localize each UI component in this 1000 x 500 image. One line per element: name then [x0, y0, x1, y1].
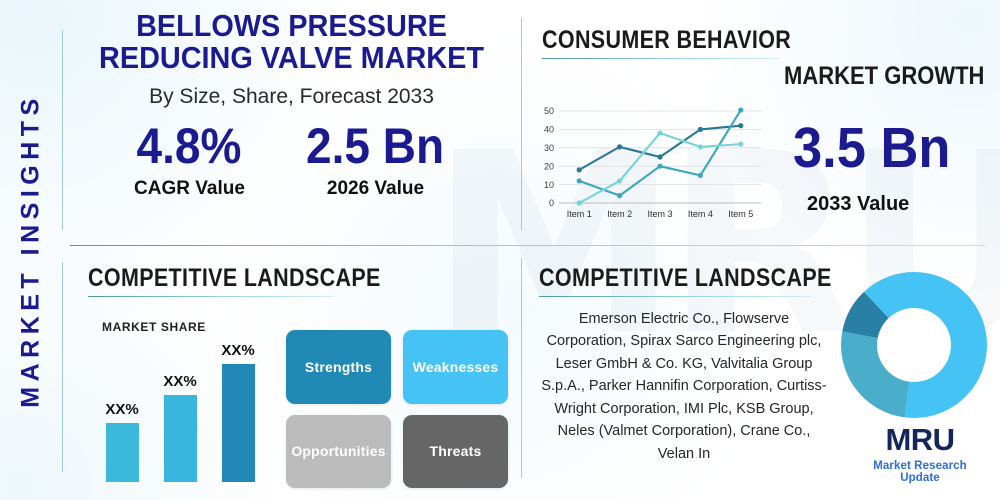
competitive-landscape-heading-right: COMPETITIVE LANDSCAPE [539, 264, 832, 293]
donut-hole [877, 308, 951, 382]
mru-logo-tagline: Market Research Update [859, 460, 981, 484]
consumer-behavior-heading: CONSUMER BEHAVIOR [542, 26, 791, 55]
kpi-group: 4.8% CAGR Value 2.5 Bn 2026 Value [62, 121, 521, 200]
svg-text:40: 40 [544, 125, 554, 135]
competitive-landscape-heading-wrap: COMPETITIVE LANDSCAPE [88, 264, 428, 297]
kpi-2026-value: 2.5 Bn [306, 121, 444, 171]
svg-text:10: 10 [544, 180, 554, 190]
market-growth-value: 3.5 Bn [793, 120, 950, 177]
svg-text:Item 5: Item 5 [728, 209, 753, 219]
swot-box-strengths[interactable]: Strengths [286, 330, 391, 404]
bar-column: XX% [100, 401, 144, 482]
bar-value-label: XX% [216, 342, 260, 359]
consumer-behavior-line-chart: 01020304050 Item 1Item 2Item 3Item 4Item… [533, 105, 767, 225]
infographic-canvas: MARKET INSIGHTS BELLOWS PRESSURE REDUCIN… [0, 0, 1000, 500]
swot-box-opportunities[interactable]: Opportunities [286, 415, 391, 489]
bar-value-label: XX% [158, 373, 202, 390]
swot-grid: StrengthsWeaknessesOpportunitiesThreats [286, 330, 508, 488]
heading-underline [88, 296, 333, 297]
market-share-donut-chart [839, 270, 989, 420]
competitive-landscape-heading-wrap-right: COMPETITIVE LANDSCAPE [539, 264, 879, 297]
heading-underline [542, 58, 780, 59]
donut-chart-svg [839, 270, 989, 420]
line-chart-series [577, 107, 744, 205]
svg-text:0: 0 [549, 198, 554, 208]
market-insights-rail: MARKET INSIGHTS [0, 0, 62, 500]
bar-value-label: XX% [100, 401, 144, 418]
market-growth-label: 2033 Value [807, 193, 909, 216]
kpi-2026: 2.5 Bn 2026 Value [300, 121, 450, 200]
bar-rect [106, 423, 139, 482]
svg-text:Item 4: Item 4 [688, 209, 713, 219]
kpi-cagr-value: 4.8% [137, 121, 242, 171]
company-list: Emerson Electric Co., Flowserve Corporat… [539, 308, 829, 465]
line-chart-x-ticks: Item 1Item 2Item 3Item 4Item 5 [567, 209, 754, 219]
page-subtitle: By Size, Share, Forecast 2033 [62, 85, 521, 109]
panel-competitive-landscape-charts: COMPETITIVE LANDSCAPE MARKET SHARE XX%XX… [62, 252, 521, 500]
panel-consumer-behavior: CONSUMER BEHAVIOR MARKET GROWTH 3.5 Bn 2… [521, 10, 1000, 245]
svg-text:Item 3: Item 3 [647, 209, 672, 219]
svg-text:Item 2: Item 2 [607, 209, 632, 219]
bar-rect [164, 395, 197, 482]
heading-underline [539, 296, 811, 297]
bar-rect [222, 364, 255, 482]
divider-horizontal [70, 245, 985, 246]
panel-competitive-landscape-list: COMPETITIVE LANDSCAPE Emerson Electric C… [521, 252, 1000, 500]
panel-market-overview: BELLOWS PRESSURE REDUCING VALVE MARKET B… [62, 10, 521, 245]
market-insights-label: MARKET INSIGHTS [17, 93, 46, 407]
market-share-label: MARKET SHARE [102, 320, 206, 334]
line-chart-svg: 01020304050 Item 1Item 2Item 3Item 4Item… [533, 105, 767, 225]
bar-column: XX% [216, 342, 260, 482]
kpi-2026-label: 2026 Value [300, 178, 450, 200]
kpi-cagr-label: CAGR Value [132, 178, 246, 200]
market-share-bar-chart: XX%XX%XX% [100, 337, 280, 482]
mru-logo-mark: MRU [859, 424, 981, 455]
mru-logo: MRU Market Research Update [859, 424, 981, 484]
bar-column: XX% [158, 373, 202, 482]
market-growth-title: MARKET GROWTH [784, 62, 984, 91]
swot-box-threats[interactable]: Threats [403, 415, 508, 489]
page-title: BELLOWS PRESSURE REDUCING VALVE MARKET [78, 10, 505, 74]
svg-text:30: 30 [544, 143, 554, 153]
svg-text:50: 50 [544, 106, 554, 116]
consumer-behavior-heading-wrap: CONSUMER BEHAVIOR [542, 26, 832, 59]
competitive-landscape-heading-left: COMPETITIVE LANDSCAPE [88, 264, 381, 293]
swot-box-weaknesses[interactable]: Weaknesses [403, 330, 508, 404]
svg-text:Item 1: Item 1 [567, 209, 592, 219]
svg-text:20: 20 [544, 161, 554, 171]
line-chart-y-ticks: 01020304050 [544, 106, 554, 208]
kpi-cagr: 4.8% CAGR Value [132, 121, 246, 200]
